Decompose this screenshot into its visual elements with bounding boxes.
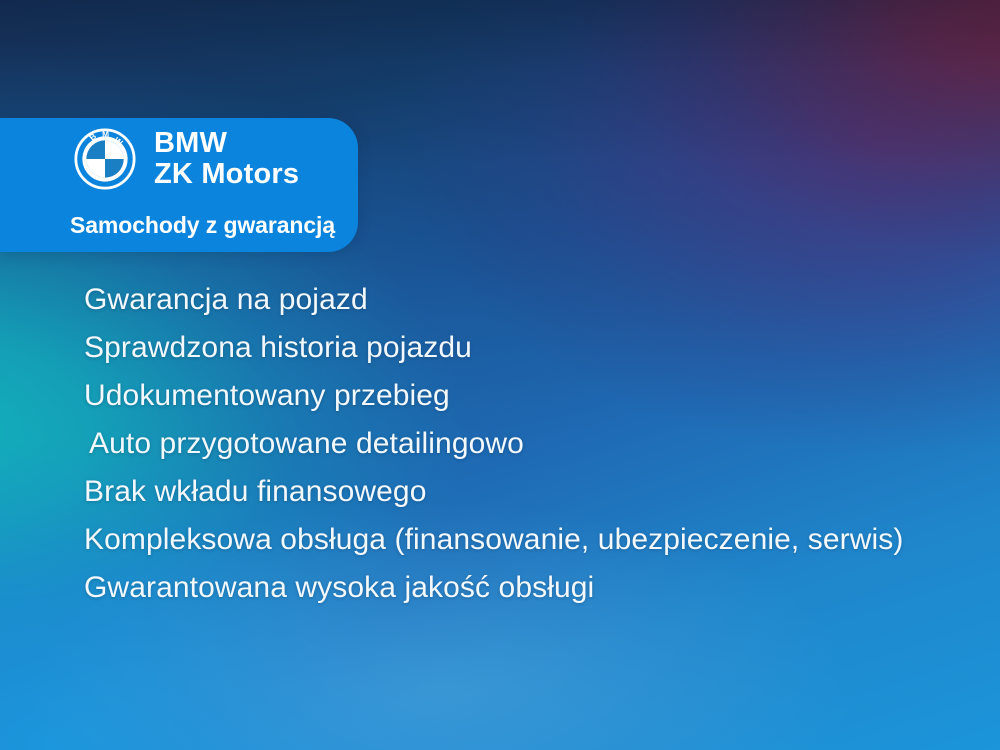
benefit-item: Gwarancja na pojazd xyxy=(0,276,1000,324)
promo-banner: B M W BMW ZK Motors Samochody z gwarancj… xyxy=(0,0,1000,750)
benefit-item: Auto przygotowane detailingowo xyxy=(0,420,1000,468)
brand-badge: B M W BMW ZK Motors Samochody z gwarancj… xyxy=(0,118,358,252)
benefit-item: Sprawdzona historia pojazdu xyxy=(0,324,1000,372)
svg-text:M: M xyxy=(102,129,110,139)
benefit-item: Brak wkładu finansowego xyxy=(0,468,1000,516)
bmw-roundel-icon: B M W xyxy=(74,128,136,190)
brand-tagline: Samochody z gwarancją xyxy=(70,212,335,239)
benefit-item: Udokumentowany przebieg xyxy=(0,372,1000,420)
benefits-list: Gwarancja na pojazd Sprawdzona historia … xyxy=(0,276,1000,612)
brand-name-zk-motors: ZK Motors xyxy=(154,159,299,190)
benefit-item: Kompleksowa obsługa (finansowanie, ubezp… xyxy=(0,516,1000,564)
benefit-item: Gwarantowana wysoka jakość obsługi xyxy=(0,564,1000,612)
brand-badge-header: B M W BMW ZK Motors xyxy=(74,128,299,191)
brand-wordmark: BMW ZK Motors xyxy=(154,128,299,191)
brand-name-bmw: BMW xyxy=(154,128,299,159)
